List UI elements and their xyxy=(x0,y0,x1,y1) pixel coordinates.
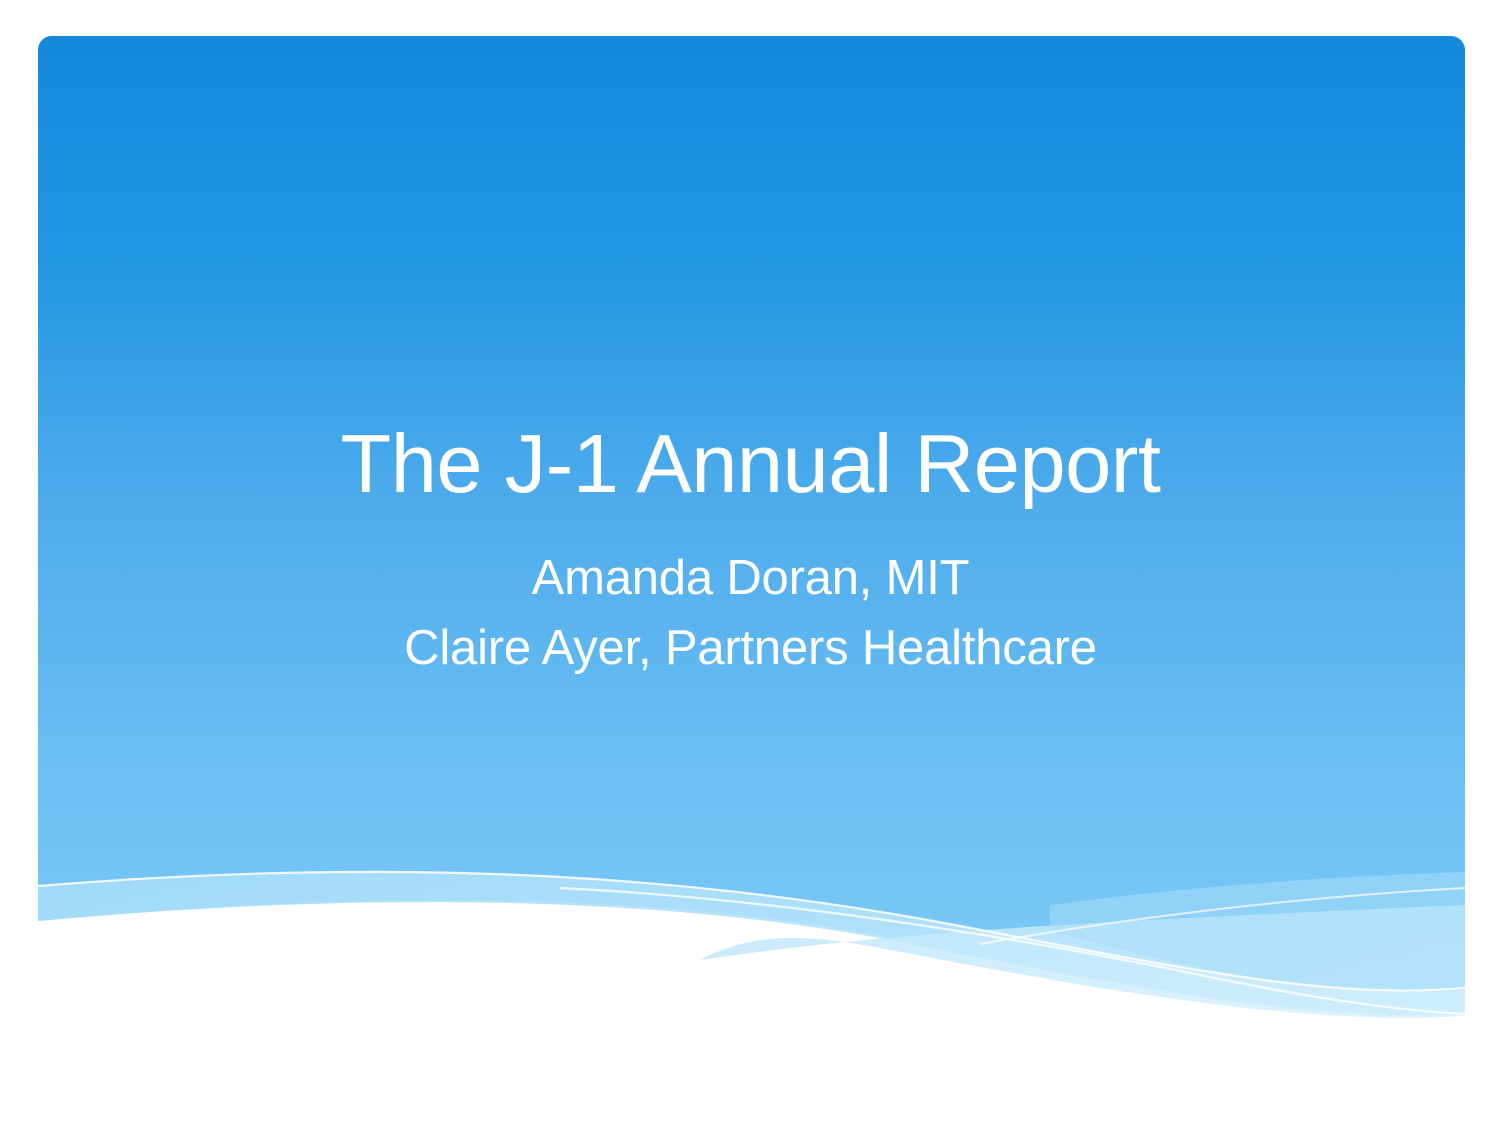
slide-background-decoration xyxy=(0,0,1500,1125)
blue-panel-shape xyxy=(38,36,1465,1014)
presentation-slide: The J-1 Annual Report Amanda Doran, MIT … xyxy=(0,0,1500,1125)
